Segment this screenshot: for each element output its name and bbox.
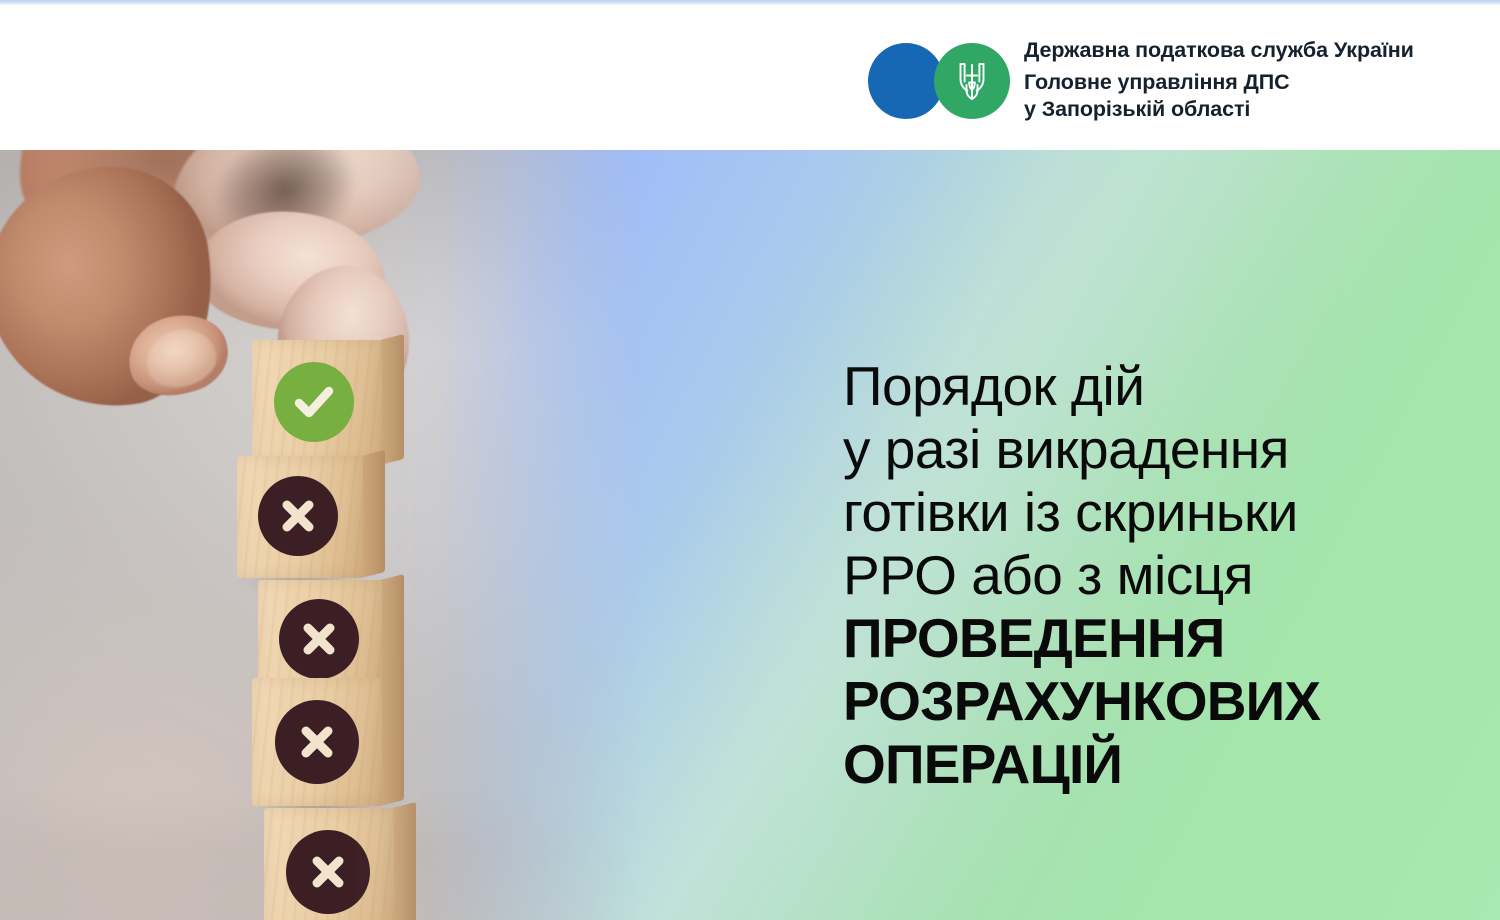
block-cross-4 bbox=[264, 808, 394, 920]
headline-line-1: Порядок дій bbox=[843, 355, 1483, 418]
block-cross-3 bbox=[252, 678, 382, 806]
logo-title-line-1: Державна податкова служба України bbox=[1024, 35, 1414, 65]
headline-line-4: РРО або з місця bbox=[843, 544, 1483, 607]
block-side-face bbox=[380, 672, 404, 806]
headline-line-6: РОЗРАХУНКОВИХ bbox=[843, 670, 1483, 733]
logo-marks bbox=[868, 39, 1020, 119]
blue-circle-icon bbox=[868, 43, 944, 119]
cross-glyph-icon bbox=[297, 617, 341, 661]
headline-line-7: ОПЕРАЦІЙ bbox=[843, 733, 1483, 796]
block-side-face bbox=[380, 334, 404, 465]
poster-canvas: Державна податкова служба України Головн… bbox=[0, 0, 1500, 920]
headline-block: Порядок дій у разі викрадення готівки із… bbox=[843, 355, 1483, 796]
photo-hand-blocks bbox=[0, 150, 640, 920]
headline-line-3: готівки із скриньки bbox=[843, 481, 1483, 544]
logo-title-line-2: Головне управління ДПС bbox=[1024, 69, 1414, 96]
cross-glyph-icon bbox=[294, 719, 340, 765]
check-glyph-icon bbox=[288, 376, 340, 428]
header-band: Державна податкова служба України Головн… bbox=[0, 5, 1500, 150]
hero-canvas: Порядок дій у разі викрадення готівки із… bbox=[0, 150, 1500, 920]
ukrainian-trident-icon bbox=[956, 59, 988, 103]
headline-line-2: у разі викрадення bbox=[843, 418, 1483, 481]
agency-logo-lockup: Державна податкова служба України Головн… bbox=[868, 35, 1414, 123]
cross-badge-icon bbox=[258, 476, 338, 556]
block-side-face bbox=[361, 450, 385, 578]
logo-title-line-3: у Запорізькій області bbox=[1024, 96, 1414, 123]
cross-badge-icon bbox=[275, 700, 359, 784]
block-check bbox=[252, 340, 382, 465]
block-cross-1 bbox=[237, 456, 363, 578]
cross-glyph-icon bbox=[305, 849, 351, 895]
cross-badge-icon bbox=[279, 599, 359, 679]
block-side-face bbox=[392, 802, 416, 920]
logo-text-block: Державна податкова служба України Головн… bbox=[1024, 35, 1414, 123]
cross-badge-icon bbox=[286, 830, 370, 914]
check-badge-icon bbox=[274, 362, 354, 442]
cross-glyph-icon bbox=[276, 494, 320, 538]
headline-line-5: ПРОВЕДЕННЯ bbox=[843, 607, 1483, 670]
